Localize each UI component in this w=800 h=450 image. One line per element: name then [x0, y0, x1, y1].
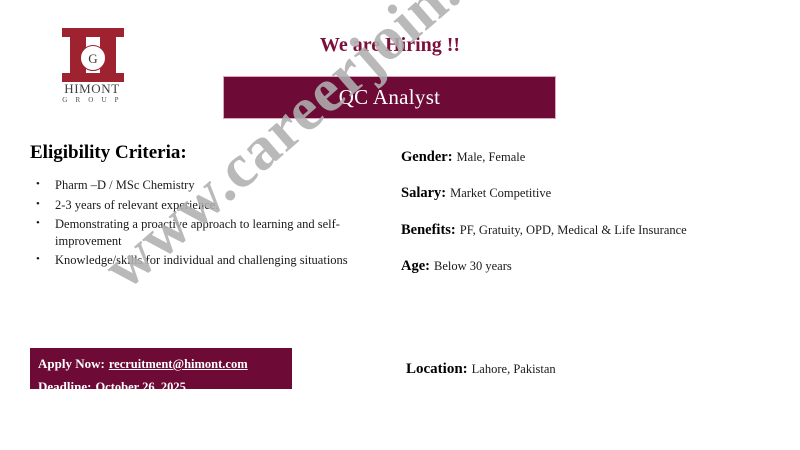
logo-g-circle-icon: G: [80, 45, 106, 71]
location-value: Lahore, Pakistan: [472, 362, 556, 376]
location-label: Location:: [406, 361, 468, 377]
eligibility-section: Eligibility Criteria: • Pharm –D / MSc C…: [30, 142, 380, 272]
logo-g-letter: G: [88, 52, 97, 65]
bullet-icon: •: [36, 252, 40, 267]
list-item: • Demonstrating a proactive approach to …: [30, 216, 380, 249]
eligibility-list: • Pharm –D / MSc Chemistry • 2-3 years o…: [30, 177, 380, 269]
detail-value: Market Competitive: [450, 186, 551, 200]
job-title-banner: QC Analyst: [223, 76, 556, 119]
logo-wordmark: HIMONT: [46, 82, 138, 96]
detail-value: Below 30 years: [434, 259, 512, 273]
list-item-text: Demonstrating a proactive approach to le…: [55, 217, 340, 248]
list-item-text: Pharm –D / MSc Chemistry: [55, 178, 195, 192]
list-item: • Pharm –D / MSc Chemistry: [30, 177, 380, 194]
location-row: Location: Lahore, Pakistan: [406, 360, 556, 378]
list-item-text: 2-3 years of relevant experience.: [55, 198, 218, 212]
detail-label: Benefits:: [401, 222, 456, 238]
company-logo: G HIMONT G R O U P: [46, 24, 138, 106]
detail-label: Age:: [401, 258, 430, 274]
apply-email-link[interactable]: recruitment@himont.com: [109, 357, 248, 371]
detail-label: Gender:: [401, 149, 453, 165]
detail-value: PF, Gratuity, OPD, Medical & Life Insura…: [460, 223, 687, 237]
deadline-value: October 26, 2025: [95, 380, 185, 394]
apply-now-line: Apply Now: recruitment@himont.com: [38, 352, 292, 375]
job-poster: G HIMONT G R O U P We are Hiring !! QC A…: [0, 0, 800, 450]
deadline-line: Deadline: October 26, 2025: [38, 375, 292, 398]
headline: We are Hiring !!: [240, 34, 540, 57]
detail-row-gender: Gender: Male, Female: [401, 147, 791, 166]
bullet-icon: •: [36, 177, 40, 192]
list-item: • 2-3 years of relevant experience.: [30, 197, 380, 214]
job-details-section: Gender: Male, Female Salary: Market Comp…: [401, 147, 791, 293]
job-title-text: QC Analyst: [339, 85, 441, 110]
detail-row-salary: Salary: Market Competitive: [401, 183, 791, 202]
list-item-text: Knowledge/skills for individual and chal…: [55, 253, 348, 267]
detail-value: Male, Female: [457, 150, 526, 164]
himont-h-monogram-icon: G: [46, 24, 138, 86]
logo-subword: G R O U P: [46, 96, 138, 104]
detail-row-benefits: Benefits: PF, Gratuity, OPD, Medical & L…: [401, 220, 791, 239]
deadline-label: Deadline:: [38, 379, 91, 394]
apply-now-box: Apply Now: recruitment@himont.com Deadli…: [30, 348, 292, 389]
bullet-icon: •: [36, 197, 40, 212]
detail-label: Salary:: [401, 185, 446, 201]
eligibility-heading: Eligibility Criteria:: [30, 142, 380, 164]
list-item: • Knowledge/skills for individual and ch…: [30, 252, 380, 269]
apply-now-label: Apply Now:: [38, 356, 105, 371]
detail-row-age: Age: Below 30 years: [401, 256, 791, 275]
bullet-icon: •: [36, 216, 40, 231]
